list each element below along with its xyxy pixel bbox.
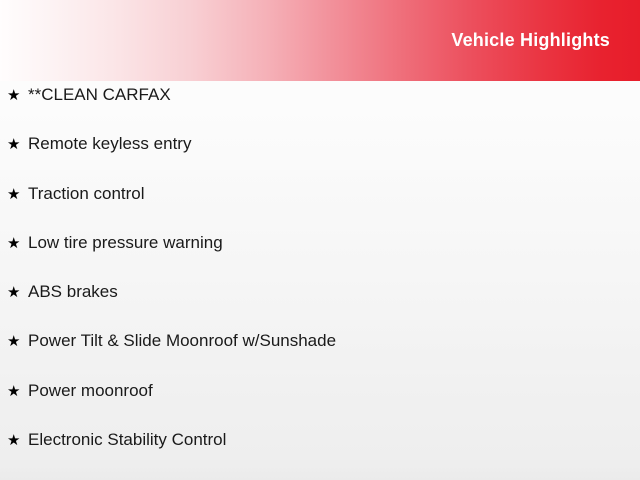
star-icon: ★: [7, 131, 28, 158]
star-icon: ★: [7, 427, 28, 454]
star-icon: ★: [7, 181, 28, 208]
list-item: ★ Low tire pressure warning: [0, 229, 640, 278]
list-item: ★ **CLEAN CARFAX: [0, 81, 640, 130]
highlight-label: Traction control: [28, 180, 640, 207]
highlight-label: Electronic Stability Control: [28, 426, 640, 453]
highlight-label: **CLEAN CARFAX: [28, 81, 640, 108]
vehicle-highlights-page: Vehicle Highlights ★ **CLEAN CARFAX ★ Re…: [0, 0, 640, 480]
header-banner: Vehicle Highlights: [0, 0, 640, 81]
star-icon: ★: [7, 378, 28, 405]
highlight-label: Power moonroof: [28, 377, 640, 404]
star-icon: ★: [7, 230, 28, 257]
highlight-label: ABS brakes: [28, 278, 640, 305]
star-icon: ★: [7, 82, 28, 109]
star-icon: ★: [7, 279, 28, 306]
list-item: ★ Power moonroof: [0, 377, 640, 426]
highlight-label: Power Tilt & Slide Moonroof w/Sunshade: [28, 327, 640, 354]
vehicle-highlights-list: ★ **CLEAN CARFAX ★ Remote keyless entry …: [0, 81, 640, 475]
page-title: Vehicle Highlights: [451, 31, 610, 51]
list-item: ★ Power Tilt & Slide Moonroof w/Sunshade: [0, 327, 640, 376]
list-item: ★ ABS brakes: [0, 278, 640, 327]
list-item: ★ Electronic Stability Control: [0, 426, 640, 475]
list-item: ★ Traction control: [0, 180, 640, 229]
star-icon: ★: [7, 328, 28, 355]
highlight-label: Remote keyless entry: [28, 130, 640, 157]
list-item: ★ Remote keyless entry: [0, 130, 640, 179]
highlight-label: Low tire pressure warning: [28, 229, 640, 256]
